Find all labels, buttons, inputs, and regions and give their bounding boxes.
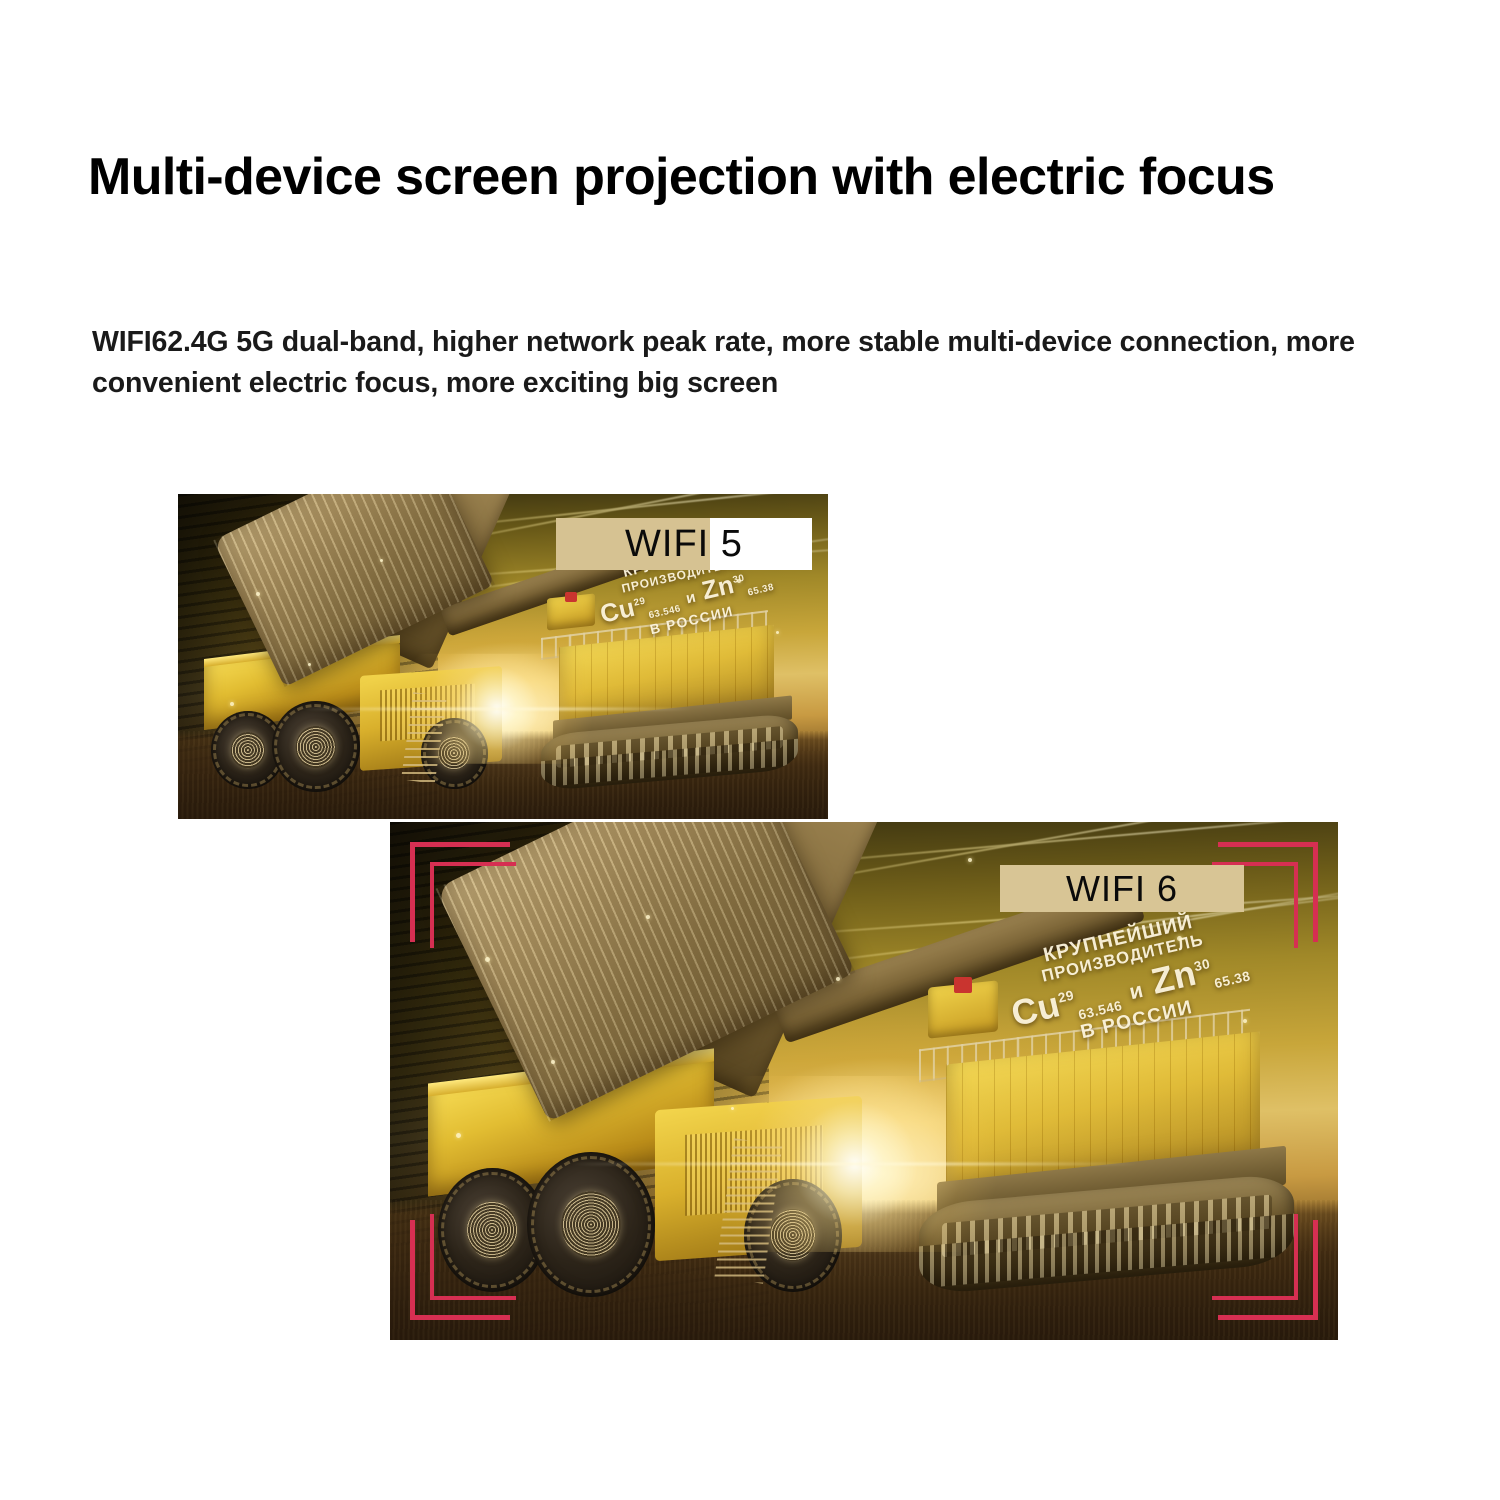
truck-tire-mid [527,1152,655,1297]
page-title: Multi-device screen projection with elec… [88,148,1318,206]
truck-tire-mid [272,701,360,792]
wifi6-label-text: WIFI 6 [1066,868,1178,910]
wifi6-label-badge: WIFI 6 [1000,865,1244,912]
wifi5-label-badge: WIFI 5 [556,518,812,570]
truck-hub-rear [467,1201,517,1258]
haul-truck [418,1060,911,1329]
crawler-track-pads [942,1195,1272,1258]
wifi5-label-text: WIFI 5 [625,523,743,566]
truck-hub-front [439,737,470,770]
mining-shovel [902,977,1338,1298]
truck-hub-rear [231,732,265,768]
shovel-warning-light [954,977,971,993]
truck-hub-mid [296,726,336,768]
page-subtitle: WIFI62.4G 5G dual-band, higher network p… [92,322,1412,405]
mining-shovel [529,592,828,794]
shovel-warning-light [565,592,577,602]
crawler-track-pads [556,727,782,768]
scene-flare-streak [302,707,692,710]
truck-hub-front [770,1209,815,1261]
haul-truck [198,644,536,813]
scene-flare-streak [570,1162,1139,1165]
truck-hub-mid [561,1191,620,1258]
